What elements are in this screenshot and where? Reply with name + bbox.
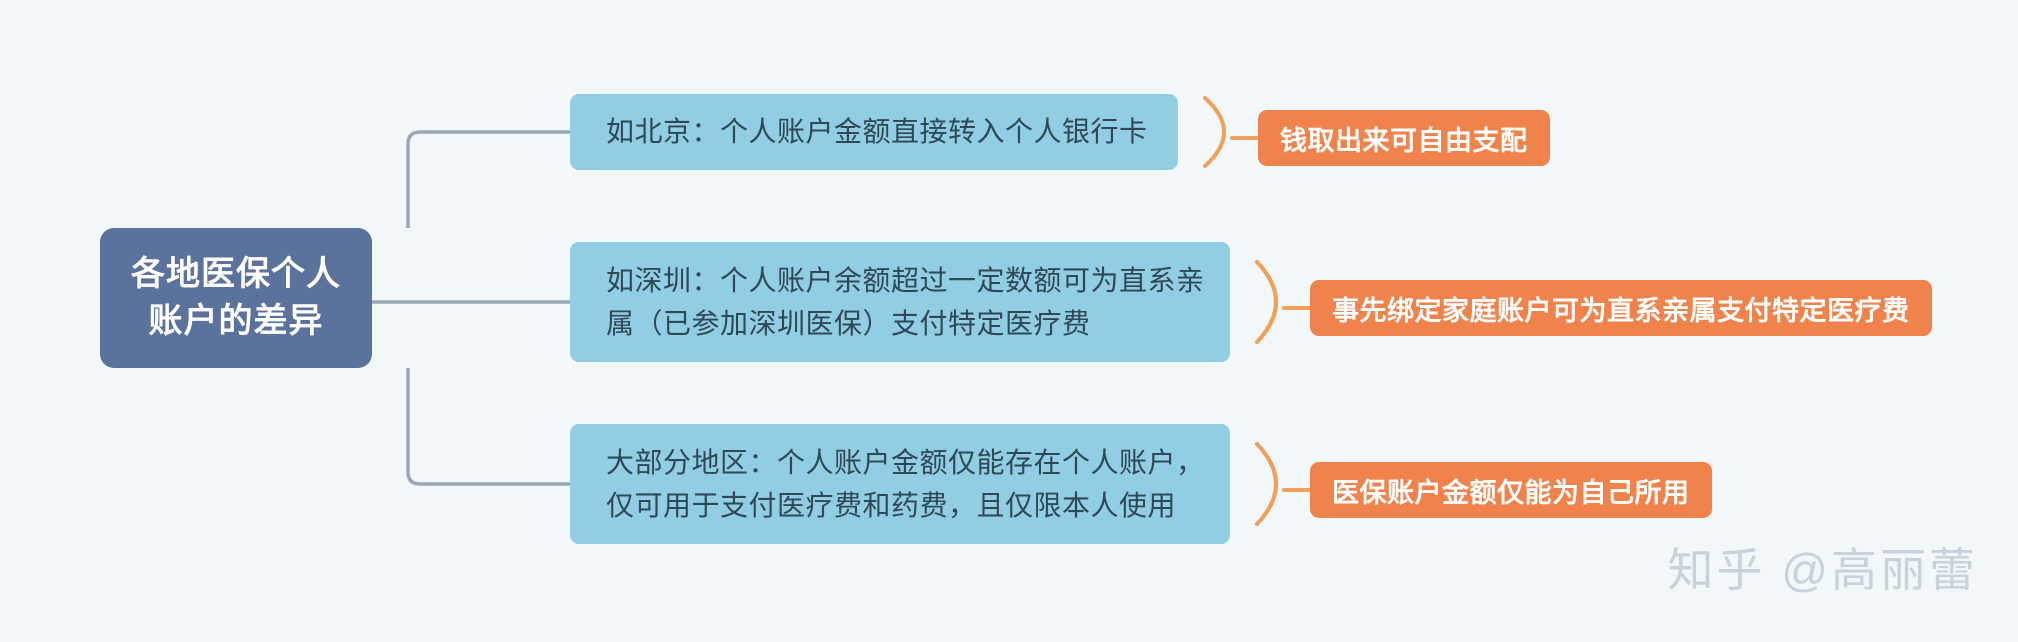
mindmap-canvas: 各地医保个人 账户的差异 如北京：个人账户金额直接转入个人银行卡 钱取出来可自由… (0, 0, 2018, 642)
connector-root-to-branch-1 (408, 132, 570, 228)
watermark: 知乎 @高丽蕾 (1668, 534, 1978, 600)
root-node[interactable]: 各地医保个人 账户的差异 (100, 228, 372, 368)
connector-root-to-branch-3 (408, 368, 570, 484)
branch-box-3-line-2: 仅可用于支付医疗费和药费，且仅限本人使用 (606, 484, 1194, 527)
branch-box-3[interactable]: 大部分地区：个人账户金额仅能存在个人账户， 仅可用于支付医疗费和药费，且仅限本人… (570, 424, 1230, 544)
branch-box-1[interactable]: 如北京：个人账户金额直接转入个人银行卡 (570, 94, 1178, 170)
bracket-branch-3 (1257, 444, 1276, 524)
result-box-3[interactable]: 医保账户金额仅能为自己所用 (1310, 462, 1712, 518)
bracket-branch-2 (1257, 262, 1276, 342)
root-node-line-1: 各地医保个人 (131, 251, 341, 298)
branch-box-2[interactable]: 如深圳：个人账户余额超过一定数额可为直系亲 属（已参加深圳医保）支付特定医疗费 (570, 242, 1230, 362)
branch-box-1-line-1: 如北京：个人账户金额直接转入个人银行卡 (606, 110, 1142, 153)
result-box-2[interactable]: 事先绑定家庭账户可为直系亲属支付特定医疗费 (1310, 280, 1932, 336)
root-node-line-2: 账户的差异 (149, 298, 324, 345)
branch-box-2-line-1: 如深圳：个人账户余额超过一定数额可为直系亲 (606, 259, 1194, 302)
branch-box-2-line-2: 属（已参加深圳医保）支付特定医疗费 (606, 302, 1194, 345)
bracket-branch-1 (1205, 98, 1224, 166)
result-box-1[interactable]: 钱取出来可自由支配 (1258, 110, 1550, 166)
branch-box-3-line-1: 大部分地区：个人账户金额仅能存在个人账户， (606, 441, 1194, 484)
